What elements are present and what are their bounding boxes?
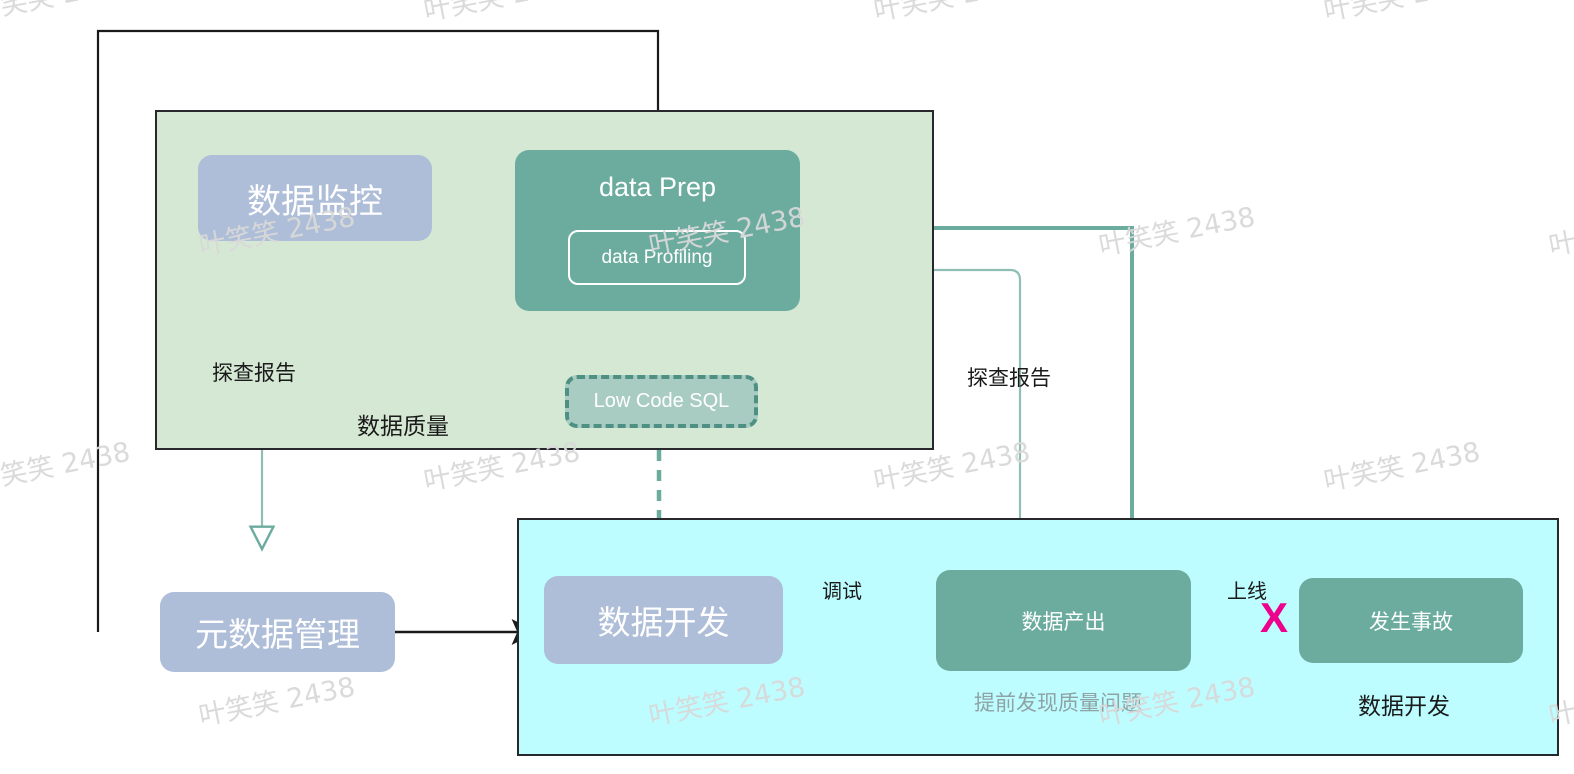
node-data-development[interactable]: 数据开发 — [544, 576, 783, 664]
x-mark-blocked-icon: X — [1260, 597, 1288, 639]
node-data-profiling-label: data Profiling — [602, 247, 713, 269]
node-data-profiling[interactable]: data Profiling — [568, 230, 746, 285]
edge-label-probe-report-left: 探查报告 — [212, 357, 296, 387]
node-metadata-management-label: 元数据管理 — [195, 608, 360, 656]
node-data-monitoring-label: 数据监控 — [247, 174, 383, 223]
node-data-output[interactable]: 数据产出 — [936, 570, 1191, 671]
node-incident-occurred[interactable]: 发生事故 — [1299, 578, 1523, 663]
diagram-canvas: 数据监控 data Prep data Profiling Low Code S… — [0, 0, 1574, 774]
caption-early-quality-detection: 提前发现质量问题 — [974, 687, 1142, 717]
node-low-code-sql-label: Low Code SQL — [594, 390, 730, 413]
node-data-development-label: 数据开发 — [598, 596, 730, 644]
edge-label-probe-report-right: 探查报告 — [967, 362, 1051, 392]
caption-data-quality: 数据质量 — [357, 407, 449, 441]
edge-label-debug: 调试 — [822, 575, 862, 604]
node-data-prep-label: data Prep — [599, 172, 716, 203]
node-data-output-label: 数据产出 — [1022, 606, 1106, 636]
node-low-code-sql[interactable]: Low Code SQL — [565, 375, 758, 428]
node-incident-occurred-label: 发生事故 — [1369, 606, 1453, 636]
node-metadata-management[interactable]: 元数据管理 — [160, 592, 395, 672]
caption-data-development: 数据开发 — [1358, 687, 1450, 721]
node-data-monitoring[interactable]: 数据监控 — [198, 155, 432, 241]
